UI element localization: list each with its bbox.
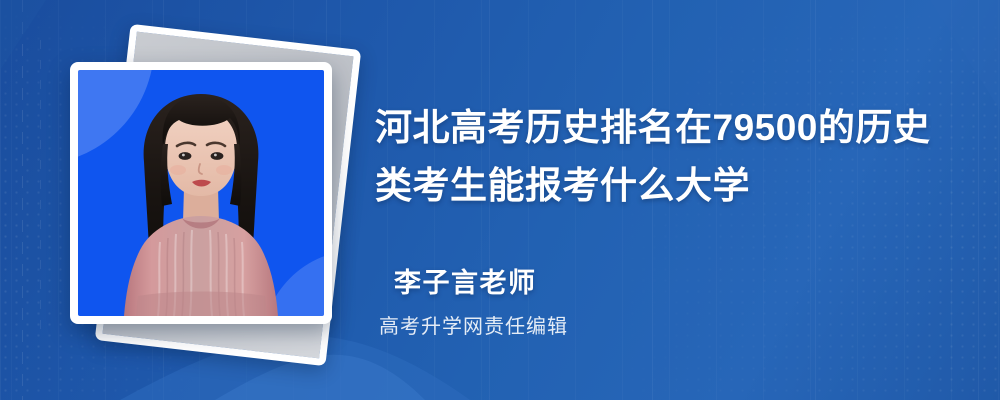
- page-title: 河北高考历史排名在79500的历史类考生能报考什么大学: [375, 99, 955, 215]
- byline: 李子言老师 高考升学网责任编辑: [375, 266, 795, 342]
- photo-cluster: [0, 0, 370, 400]
- portrait-illustration: [78, 70, 324, 316]
- article-cover-banner: 河北高考历史排名在79500的历史类考生能报考什么大学 李子言老师 高考升学网责…: [0, 0, 1000, 400]
- text-column: 河北高考历史排名在79500的历史类考生能报考什么大学 李子言老师 高考升学网责…: [372, 0, 972, 400]
- author-photo-frame: [70, 62, 332, 324]
- author-name: 李子言老师: [375, 266, 795, 300]
- author-role: 高考升学网责任编辑: [375, 312, 795, 342]
- author-photo: [78, 70, 324, 316]
